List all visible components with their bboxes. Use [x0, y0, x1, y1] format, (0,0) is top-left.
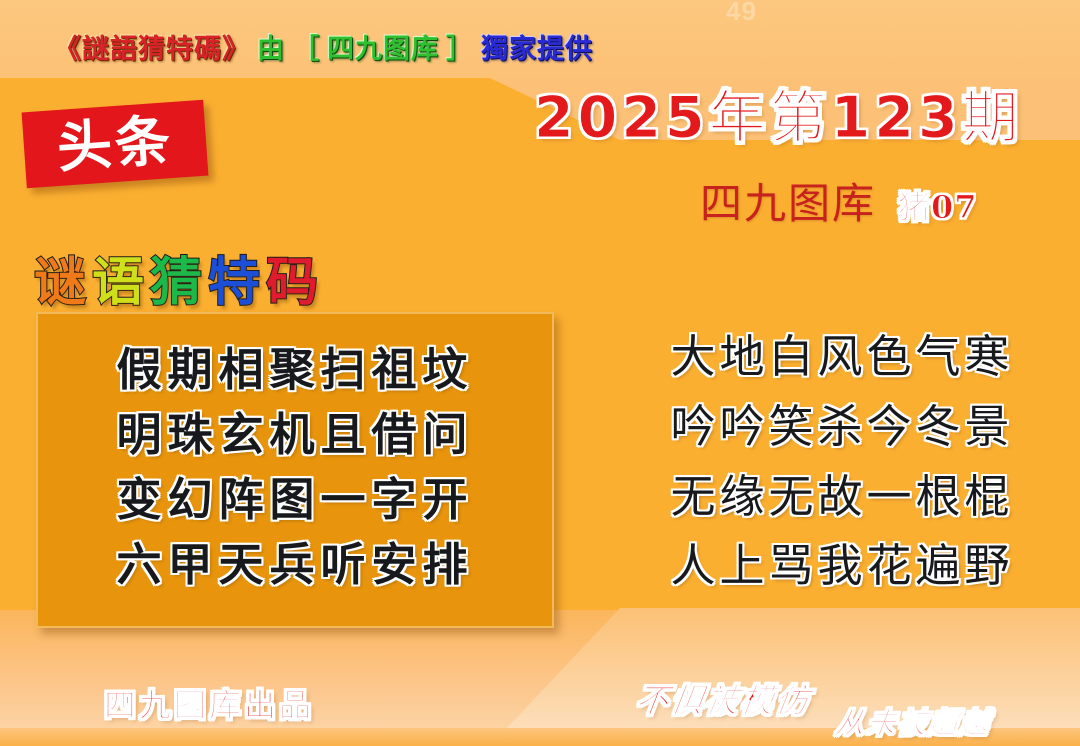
riddle-box: 假期相聚扫祖坟 明珠玄机且借问 变幻阵图一字开 六甲天兵听安排: [36, 312, 554, 628]
poster-root: 49 《謎語猜特碼》 由 ［ 四九图库 ］ 獨家提供 头条 2025年第123期…: [0, 0, 1080, 746]
brand-row: 四九图库 猪07: [700, 170, 978, 231]
riddle-line: 六甲天兵听安排: [56, 533, 534, 598]
rainbow-title-char-1: 语: [92, 240, 146, 315]
watermark-text: 49: [726, 0, 757, 27]
footer-slogan-secondary: 从未被超越: [833, 700, 994, 742]
header-title: 《謎語猜特碼》: [54, 27, 250, 66]
poem-line: 无缘无故一根棍: [612, 462, 1072, 532]
riddle-line: 变幻阵图一字开: [56, 468, 534, 533]
riddle-line: 假期相聚扫祖坟: [56, 338, 534, 403]
headline-badge: 头条: [22, 100, 209, 189]
rainbow-title-char-4: 码: [266, 240, 320, 315]
header-bracket-open: ［: [292, 27, 320, 66]
rainbow-title-char-2: 猜: [150, 240, 204, 315]
header-site-name: 四九图库: [327, 27, 439, 66]
poem-line: 人上骂我花遍野: [612, 531, 1072, 601]
riddle-line: 明珠玄机且借问: [56, 403, 534, 468]
headline-badge-label: 头条: [55, 113, 175, 176]
poem-block: 大地白风色气寒 吟吟笑杀今冬景 无缘无故一根棍 人上骂我花遍野: [612, 322, 1072, 601]
rainbow-title: 谜语猜特码: [34, 240, 324, 315]
header-bracket-close: ］: [446, 27, 474, 66]
header-line: 《謎語猜特碼》 由 ［ 四九图库 ］ 獨家提供: [54, 27, 593, 66]
header-exclusive-label: 獨家提供: [481, 27, 593, 66]
poem-line: 大地白风色气寒: [612, 322, 1072, 392]
rainbow-title-char-3: 特: [208, 240, 262, 315]
footer-produced-by: 四九图库出品: [104, 680, 314, 726]
poem-line: 吟吟笑杀今冬景: [612, 392, 1072, 462]
header-by-label: 由: [257, 27, 285, 66]
rainbow-title-char-0: 谜: [34, 240, 88, 315]
brand-name: 四九图库: [700, 170, 876, 231]
zodiac-code: 猪07: [898, 182, 978, 228]
footer-slogan-primary: 不惧被模仿: [633, 674, 815, 722]
issue-title: 2025年第123期: [534, 72, 1023, 154]
